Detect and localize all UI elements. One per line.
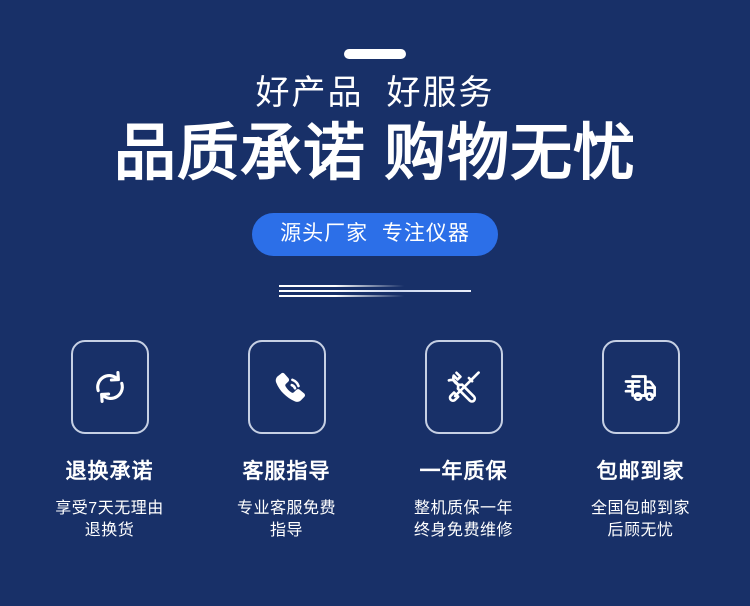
divider-decoration	[279, 283, 471, 301]
badge-container: 源头厂家 专注仪器	[0, 213, 750, 256]
wrench-screwdriver-icon	[442, 365, 486, 409]
icon-box-exchange	[71, 340, 149, 434]
icon-box-warranty	[425, 340, 503, 434]
divider-line-middle	[279, 290, 471, 292]
feature-title: 退换承诺	[66, 460, 154, 484]
feature-item-exchange: 退换承诺 享受7天无理由 退换货	[21, 340, 198, 542]
divider-line-top	[279, 285, 404, 287]
feature-title: 包邮到家	[597, 460, 685, 484]
feature-description: 享受7天无理由 退换货	[55, 498, 163, 542]
feature-description: 全国包邮到家 后顾无忧	[591, 498, 690, 542]
divider-line-bottom	[279, 295, 404, 297]
icon-box-shipping	[602, 340, 680, 434]
manufacturer-badge: 源头厂家 专注仪器	[252, 213, 498, 256]
banner-subtitle: 好产品 好服务	[0, 72, 750, 114]
top-dash-decoration	[344, 49, 406, 59]
feature-description: 专业客服免费 指导	[237, 498, 336, 542]
delivery-truck-icon	[619, 365, 663, 409]
phone-support-icon	[265, 365, 309, 409]
promo-banner: 好产品 好服务 品质承诺 购物无忧 源头厂家 专注仪器 退换承诺 享	[0, 0, 750, 606]
icon-box-support	[248, 340, 326, 434]
feature-item-warranty: 一年质保 整机质保一年 终身免费维修	[375, 340, 552, 542]
banner-headline: 品质承诺 购物无忧	[0, 116, 750, 192]
feature-list: 退换承诺 享受7天无理由 退换货 客服指导 专业客服免费 指导	[0, 340, 750, 542]
feature-title: 客服指导	[243, 460, 331, 484]
feature-description: 整机质保一年 终身免费维修	[414, 498, 513, 542]
feature-item-support: 客服指导 专业客服免费 指导	[198, 340, 375, 542]
feature-title: 一年质保	[420, 460, 508, 484]
feature-item-shipping: 包邮到家 全国包邮到家 后顾无忧	[552, 340, 729, 542]
exchange-refresh-icon	[88, 365, 132, 409]
